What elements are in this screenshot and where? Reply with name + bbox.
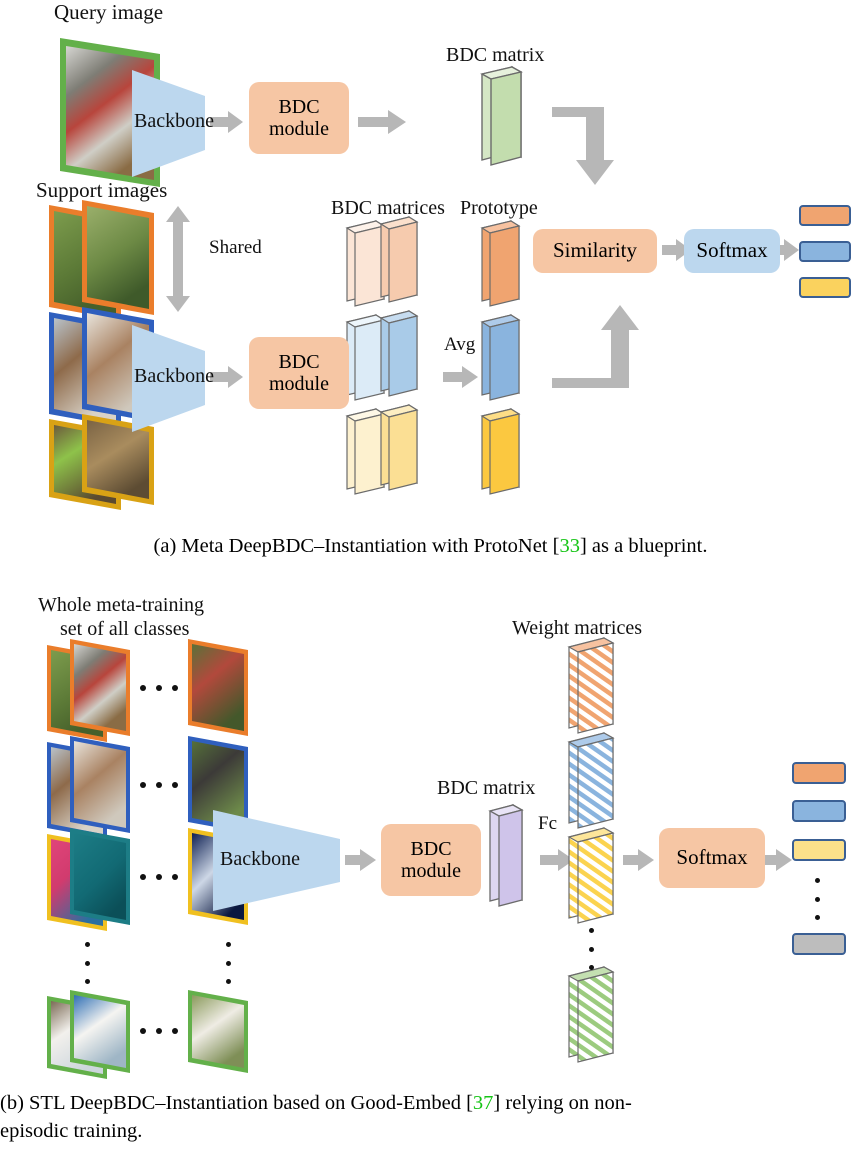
dataset-column-right-ellipsis [225,942,231,984]
bdc-module-b-label: BDC module [401,838,461,883]
dataset-row-jellyfish-ellipsis [140,873,178,881]
caption-b-citation[interactable]: 37 [473,1092,494,1114]
softmax-label-b: Softmax [676,846,747,870]
dataset-row-bird-ellipsis [140,684,178,692]
figure-root: Query image Support images Shared BDC ma… [0,0,861,1160]
caption-b: (b) STL DeepBDC–Instantiation based on G… [0,1090,861,1145]
output-bar-class-n-b[interactable] [792,933,846,955]
dataset-row-dog-ellipsis [140,781,178,789]
output-bar-class-1-b[interactable] [792,762,846,784]
dataset-row-white-dog-ellipsis [140,1027,178,1035]
weight-matrix-2 [569,733,613,828]
output-bar-class-3-b[interactable] [792,839,846,861]
caption-b-prefix: (b) STL DeepBDC–Instantiation based on G… [0,1092,473,1114]
softmax-box-b[interactable]: Softmax [659,828,765,888]
panel-b-graphics [0,0,861,1160]
weight-matrix-n [569,967,613,1062]
arrow-backbone-to-bdc-b [345,849,376,871]
arrow-softmax-to-outputs-b [762,849,792,871]
dataset-column-left-ellipsis [84,942,90,984]
output-bar-class-2-b[interactable] [792,800,846,822]
weight-matrix-3 [569,828,613,923]
backbone-b-label: Backbone [220,848,300,871]
weight-matrix-1 [569,638,613,733]
weight-matrices-ellipsis [588,928,594,970]
bdc-module-b[interactable]: BDC module [381,824,481,896]
caption-b-suffix: ] relying on non- [493,1092,631,1114]
arrow-weights-to-softmax-b [623,849,654,871]
output-bars-ellipsis-b [814,878,820,920]
bdc-matrix-slab-b [490,805,522,906]
caption-b-line2: episodic training. [0,1120,142,1142]
